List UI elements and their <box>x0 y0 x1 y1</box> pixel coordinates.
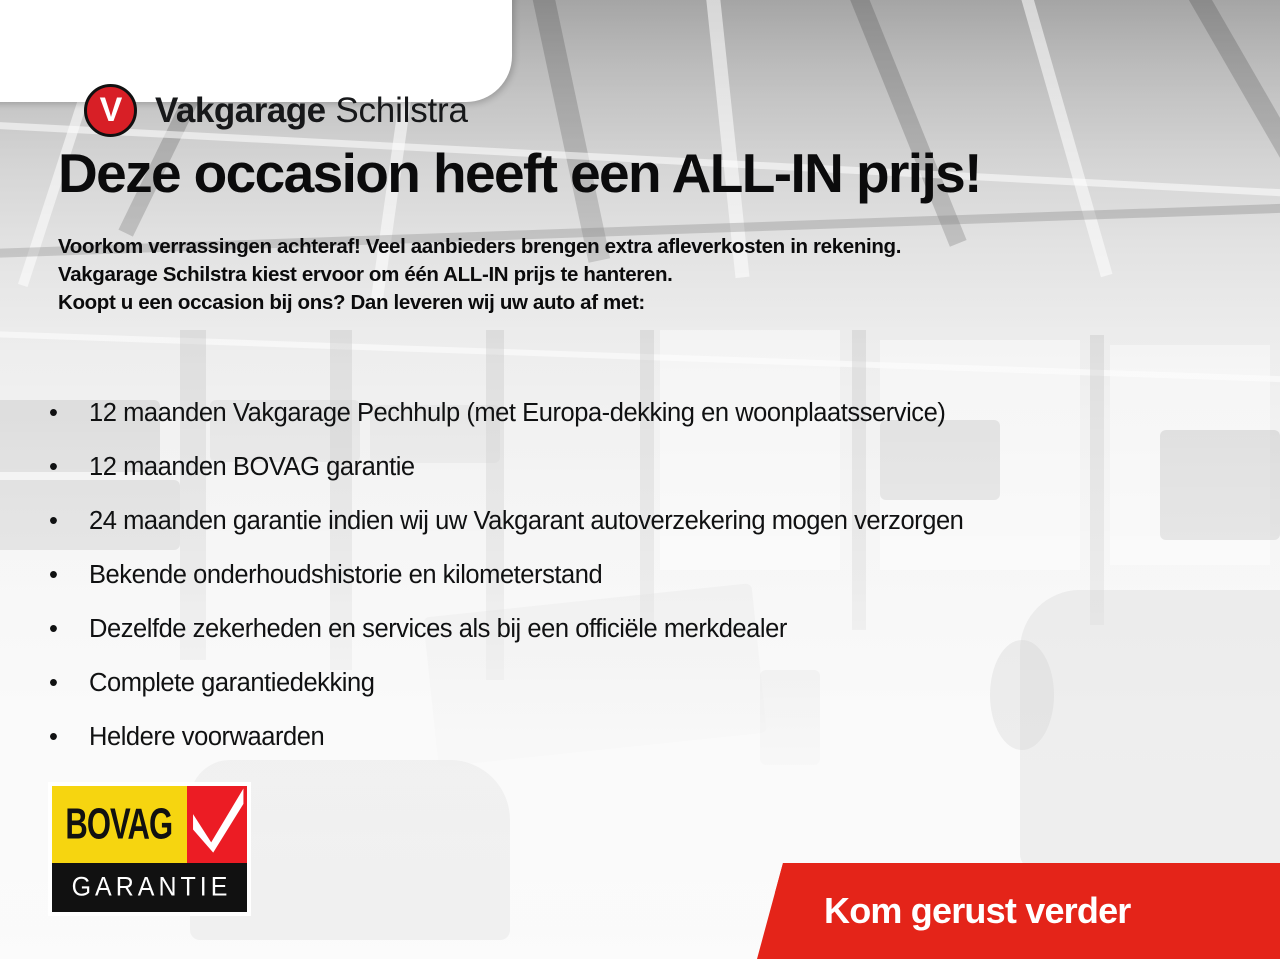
promo-banner: V Vakgarage Schilstra Deze occasion heef… <box>0 0 1280 959</box>
bullet-marker-icon: • <box>49 656 57 710</box>
list-item: • 12 maanden Vakgarage Pechhulp (met Eur… <box>44 386 963 440</box>
bullet-marker-icon: • <box>49 602 57 656</box>
bovag-subtitle-panel: GARANTIE <box>52 863 247 912</box>
list-item-label: Bekende onderhoudshistorie en kilometers… <box>89 561 602 589</box>
list-item: • Bekende onderhoudshistorie en kilomete… <box>44 548 963 602</box>
bovag-garantie-badge: BOVAG GARANTIE <box>48 782 251 916</box>
bullet-marker-icon: • <box>49 440 57 494</box>
bovag-wordmark-panel: BOVAG <box>52 786 187 863</box>
list-item-label: 12 maanden BOVAG garantie <box>89 453 415 481</box>
headline: Deze occasion heeft een ALL-IN prijs! <box>58 141 981 205</box>
list-item-label: 12 maanden Vakgarage Pechhulp (met Europ… <box>89 399 945 427</box>
subcopy-line: Voorkom verrassingen achteraf! Veel aanb… <box>58 233 901 261</box>
list-item: • Heldere voorwaarden <box>44 710 963 764</box>
cta-inner: Kom gerust verder <box>757 863 1280 959</box>
list-item-label: Dezelfde zekerheden en services als bij … <box>89 615 787 643</box>
bullet-marker-icon: • <box>49 710 57 764</box>
list-item: • Dezelfde zekerheden en services als bi… <box>44 602 963 656</box>
bullet-marker-icon: • <box>49 386 57 440</box>
bovag-wordmark: BOVAG <box>66 799 173 849</box>
benefits-list: • 12 maanden Vakgarage Pechhulp (met Eur… <box>44 386 963 764</box>
bovag-check-panel <box>187 786 247 863</box>
bovag-badge-inner: BOVAG GARANTIE <box>52 786 247 912</box>
checkmark-icon <box>187 786 247 863</box>
bovag-subtitle: GARANTIE <box>68 872 232 903</box>
cta-banner[interactable]: Kom gerust verder <box>757 863 1280 959</box>
bullet-marker-icon: • <box>49 494 57 548</box>
list-item-label: Complete garantiedekking <box>89 669 374 697</box>
subcopy-line: Vakgarage Schilstra kiest ervoor om één … <box>58 261 901 289</box>
list-item-label: 24 maanden garantie indien wij uw Vakgar… <box>89 507 963 535</box>
list-item-label: Heldere voorwaarden <box>89 723 324 751</box>
subcopy-line: Koopt u een occasion bij ons? Dan levere… <box>58 289 901 317</box>
list-item: • 24 maanden garantie indien wij uw Vakg… <box>44 494 963 548</box>
list-item: • Complete garantiedekking <box>44 656 963 710</box>
cta-label: Kom gerust verder <box>824 890 1131 932</box>
subcopy: Voorkom verrassingen achteraf! Veel aanb… <box>58 233 901 317</box>
bovag-badge-top: BOVAG <box>52 786 247 863</box>
bullet-marker-icon: • <box>49 548 57 602</box>
list-item: • 12 maanden BOVAG garantie <box>44 440 963 494</box>
